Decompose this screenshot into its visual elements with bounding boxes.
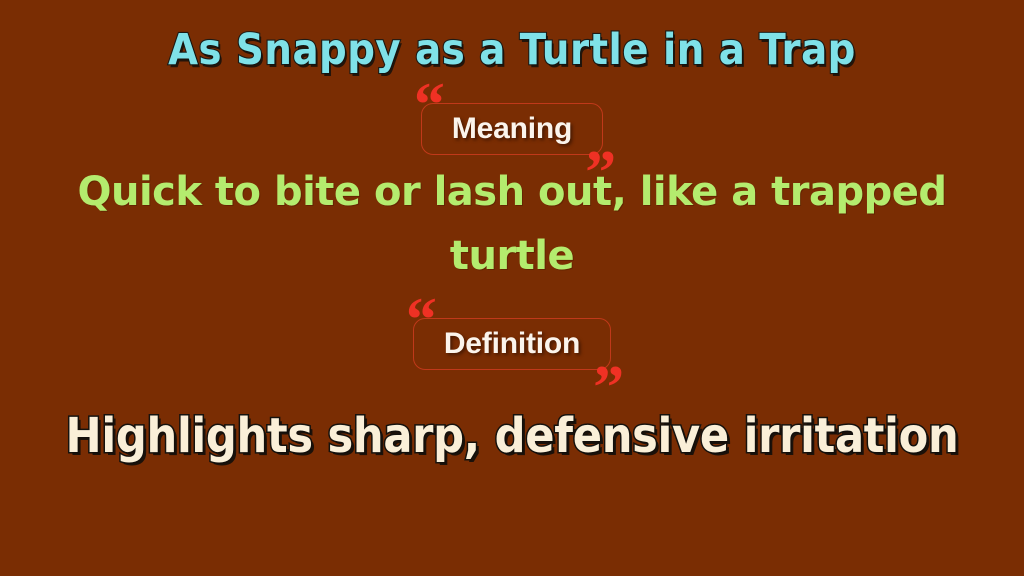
idiom-slide: As Snappy as a Turtle in a Trap “ Meanin… xyxy=(0,0,1024,576)
definition-badge-label: Definition xyxy=(444,328,580,360)
meaning-badge-label: Meaning xyxy=(452,113,572,145)
meaning-badge-container: “ Meaning ” xyxy=(0,103,1024,155)
open-quote-icon: “ xyxy=(414,74,445,136)
meaning-badge: “ Meaning ” xyxy=(421,103,603,155)
meaning-body-text: Quick to bite or lash out, like a trappe… xyxy=(47,160,977,288)
open-quote-icon: “ xyxy=(406,289,437,351)
definition-badge-container: “ Definition ” xyxy=(0,318,1024,370)
definition-body-text: Highlights sharp, defensive irritation xyxy=(0,405,1024,467)
definition-badge: “ Definition ” xyxy=(413,318,611,370)
page-title: As Snappy as a Turtle in a Trap xyxy=(0,20,1024,80)
